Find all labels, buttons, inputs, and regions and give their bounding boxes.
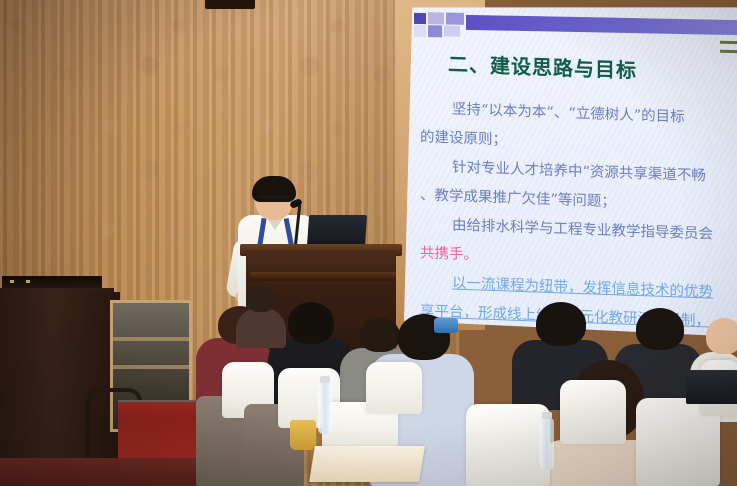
water-bottle bbox=[540, 418, 554, 470]
slide-dash-1 bbox=[720, 41, 737, 44]
attendee-far-left-back-head bbox=[246, 286, 276, 312]
slide-surface: 二、建设思路与目标 坚持“以本为本”、“立德树人”的目标的建设原则；针对专业人才… bbox=[404, 1, 737, 338]
slide-body-text: 坚持“以本为本”、“立德树人”的目标的建设原则；针对专业人才培养中“资源共享渠道… bbox=[420, 94, 737, 340]
printed-document bbox=[309, 446, 425, 482]
slide-decor-square bbox=[444, 25, 460, 36]
slide-header-decoration bbox=[412, 11, 737, 48]
slide-accent-bar bbox=[466, 15, 737, 36]
cabinet-shelf bbox=[113, 337, 189, 341]
smartphone bbox=[434, 318, 458, 333]
podium-laptop-screen bbox=[307, 215, 367, 247]
podium-shelf bbox=[250, 272, 396, 281]
attendee-raised-arm-head bbox=[706, 318, 737, 354]
attendee-grey-shirt-head bbox=[360, 318, 400, 352]
av-indicator-led bbox=[26, 280, 30, 283]
slide-decor-squares bbox=[412, 11, 472, 42]
attendee-blue-lanyard-head bbox=[536, 302, 586, 346]
attendee-black-polo-head bbox=[288, 302, 334, 344]
slide-decor-square bbox=[414, 13, 426, 24]
cabinet-shelf bbox=[113, 365, 189, 369]
yellow-cup bbox=[290, 420, 316, 450]
attendee-right-dark-head bbox=[636, 308, 684, 350]
projection-screen: 二、建设思路与目标 坚持“以本为本”、“立德树人”的目标的建设原则；针对专业人才… bbox=[404, 0, 737, 340]
slide-decor-square bbox=[446, 12, 464, 24]
attendee-laptop bbox=[686, 370, 737, 404]
conference-photo: 二、建设思路与目标 坚持“以本为本”、“立德树人”的目标的建设原则；针对专业人才… bbox=[0, 0, 737, 486]
bottle-cap bbox=[320, 376, 330, 383]
ceiling-vent bbox=[205, 0, 255, 9]
chair-cover bbox=[560, 380, 626, 444]
av-indicator-led bbox=[10, 280, 14, 283]
chair-cover bbox=[466, 404, 550, 486]
presenter-eyeglasses bbox=[259, 196, 289, 205]
slide-decor-square bbox=[428, 12, 444, 24]
attendee-far-left-back-torso bbox=[236, 308, 286, 348]
slide-dash-2 bbox=[720, 50, 737, 53]
slide-title: 二、建设思路与目标 bbox=[448, 48, 637, 84]
slide-decor-square bbox=[414, 25, 426, 37]
water-bottle bbox=[318, 382, 332, 434]
slide-decor-square bbox=[428, 25, 442, 37]
chair-cover bbox=[366, 362, 422, 414]
bottle-cap bbox=[542, 412, 552, 419]
